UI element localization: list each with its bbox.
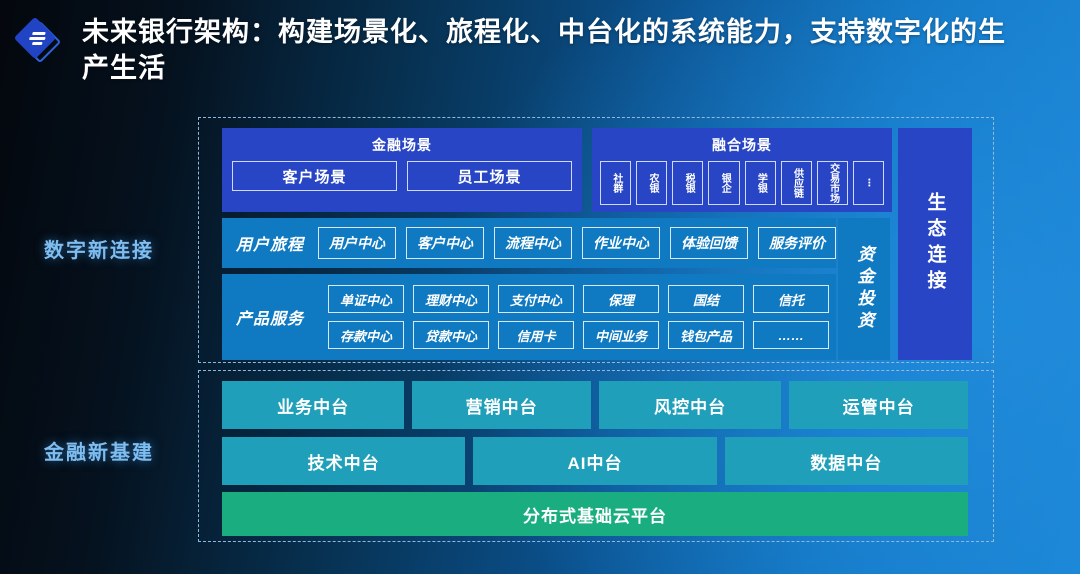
- journey-item[interactable]: 作业中心: [582, 227, 660, 259]
- ecosystem-connection-label: 生态连接: [922, 192, 949, 296]
- middle-platform-item[interactable]: 风控中台: [599, 381, 781, 429]
- middle-platform-item[interactable]: 业务中台: [222, 381, 404, 429]
- section-label-financial-infrastructure: 金融新基建: [44, 436, 154, 465]
- journey-item[interactable]: 流程中心: [494, 227, 572, 259]
- product-item[interactable]: 保理: [583, 285, 659, 313]
- product-item[interactable]: 国结: [668, 285, 744, 313]
- middle-platform-row-2: 技术中台 AI中台 数据中台: [222, 437, 968, 485]
- user-journey-row: 用户旅程 用户中心 客户中心 流程中心 作业中心 体验回馈 服务评价: [222, 218, 836, 268]
- product-item[interactable]: 理财中心: [413, 285, 489, 313]
- product-item[interactable]: 贷款中心: [413, 321, 489, 349]
- middle-platform-item[interactable]: 运管中台: [789, 381, 968, 429]
- financial-scenarios-row: 客户场景 员工场景: [222, 161, 582, 191]
- middle-platform-item[interactable]: 数据中台: [725, 437, 968, 485]
- fusion-item[interactable]: 交易市场: [817, 161, 848, 205]
- product-item[interactable]: 支付中心: [498, 285, 574, 313]
- middle-platform-row-1: 业务中台 营销中台 风控中台 运管中台: [222, 381, 968, 429]
- ecosystem-connection-column[interactable]: 生态连接: [898, 128, 972, 360]
- fusion-item[interactable]: 银企: [708, 161, 739, 205]
- scenario-box[interactable]: 员工场景: [407, 161, 572, 191]
- product-item-more[interactable]: ……: [753, 321, 829, 349]
- section-label-digital-connection: 数字新连接: [44, 234, 154, 263]
- fusion-item[interactable]: 社群: [600, 161, 631, 205]
- logo-bars-icon: [25, 32, 46, 48]
- product-item[interactable]: 存款中心: [328, 321, 404, 349]
- journey-item[interactable]: 服务评价: [758, 227, 836, 259]
- capital-investment-column[interactable]: 资金投资: [838, 218, 890, 360]
- fusion-item[interactable]: 供应链: [781, 161, 812, 205]
- middle-platform-item[interactable]: 营销中台: [412, 381, 591, 429]
- product-item[interactable]: 信托: [753, 285, 829, 313]
- financial-scenarios-panel: 金融场景 客户场景 员工场景: [222, 128, 582, 212]
- product-services-line-2: 存款中心 贷款中心 信用卡 中间业务 钱包产品 ……: [328, 321, 829, 349]
- middle-platform-item[interactable]: AI中台: [473, 437, 716, 485]
- product-item[interactable]: 信用卡: [498, 321, 574, 349]
- fusion-scenarios-panel: 融合场景 社群 农银 税银 银企 学银 供应链 交易市场 ⋮: [592, 128, 892, 212]
- journey-item[interactable]: 用户中心: [318, 227, 396, 259]
- financial-scenarios-title: 金融场景: [222, 135, 582, 155]
- fusion-item-more[interactable]: ⋮: [853, 161, 884, 205]
- fusion-item[interactable]: 农银: [636, 161, 667, 205]
- product-item[interactable]: 单证中心: [328, 285, 404, 313]
- middle-platform-item[interactable]: 技术中台: [222, 437, 465, 485]
- cloud-platform-bar[interactable]: 分布式基础云平台: [222, 492, 968, 536]
- page-header: 未来银行架构：构建场景化、旅程化、中台化的系统能力，支持数字化的生产生活: [0, 0, 1080, 104]
- journey-item[interactable]: 客户中心: [406, 227, 484, 259]
- scenario-box[interactable]: 客户场景: [232, 161, 397, 191]
- product-services-label: 产品服务: [236, 305, 328, 329]
- fusion-scenarios-row: 社群 农银 税银 银企 学银 供应链 交易市场 ⋮: [592, 161, 892, 205]
- user-journey-label: 用户旅程: [236, 231, 304, 255]
- capital-investment-label: 资金投资: [852, 245, 877, 333]
- product-services-grid: 单证中心 理财中心 支付中心 保理 国结 信托 存款中心 贷款中心 信用卡 中间…: [328, 285, 829, 349]
- product-item[interactable]: 钱包产品: [668, 321, 744, 349]
- brand-diamond-logo: [18, 20, 64, 66]
- page-title: 未来银行架构：构建场景化、旅程化、中台化的系统能力，支持数字化的生产生活: [82, 14, 1012, 87]
- fusion-scenarios-title: 融合场景: [592, 135, 892, 155]
- fusion-item[interactable]: 学银: [745, 161, 776, 205]
- journey-item[interactable]: 体验回馈: [670, 227, 748, 259]
- fusion-item[interactable]: 税银: [672, 161, 703, 205]
- product-services-row: 产品服务 单证中心 理财中心 支付中心 保理 国结 信托 存款中心 贷款中心 信…: [222, 274, 836, 360]
- product-services-line-1: 单证中心 理财中心 支付中心 保理 国结 信托: [328, 285, 829, 313]
- product-item[interactable]: 中间业务: [583, 321, 659, 349]
